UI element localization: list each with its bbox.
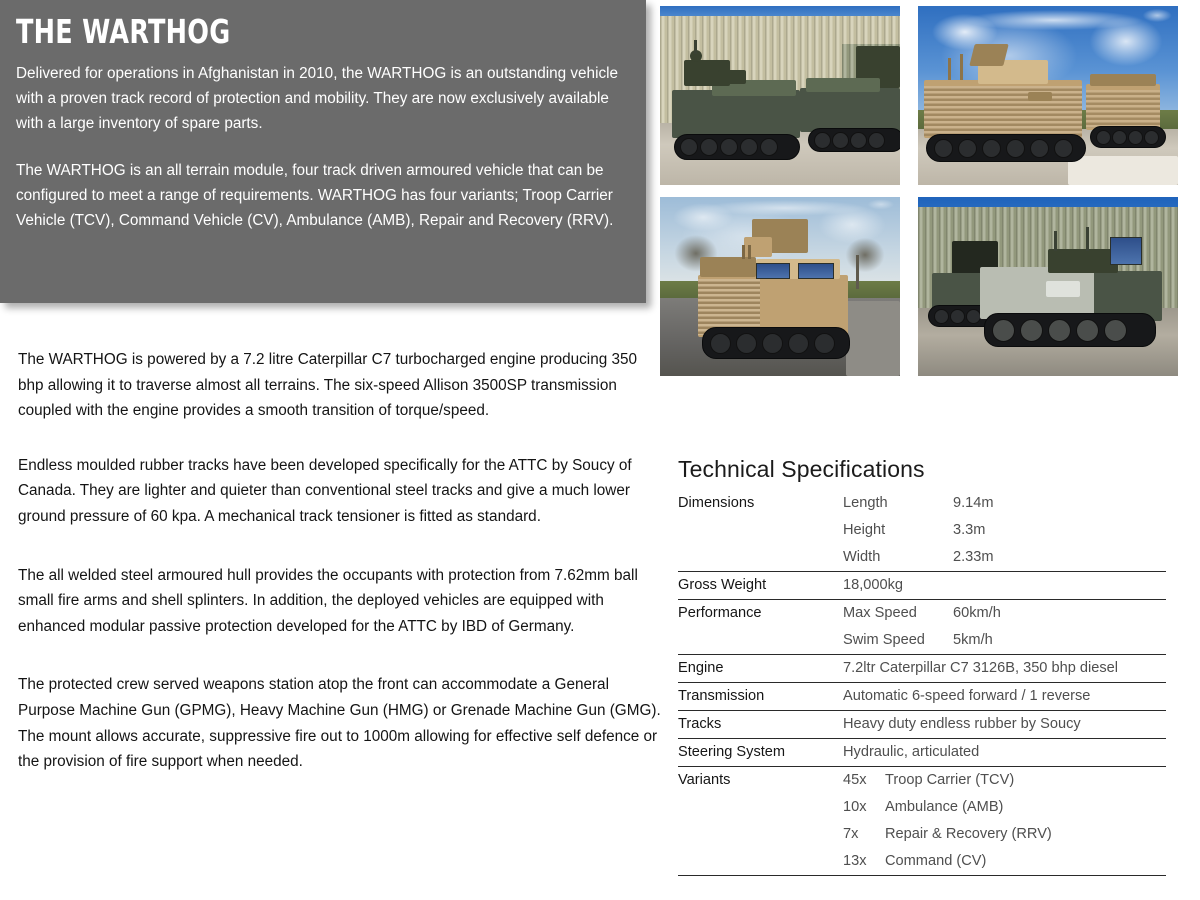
row-label: Dimensions bbox=[678, 490, 843, 517]
row-value: Hydraulic, articulated bbox=[843, 739, 1166, 767]
roadwheel bbox=[950, 309, 965, 324]
hero-paragraph-1: Delivered for operations in Afghanistan … bbox=[16, 61, 628, 136]
road-marking bbox=[1068, 156, 1178, 185]
photo-green-warthog-front-quarter bbox=[918, 197, 1178, 376]
roadwheel bbox=[992, 319, 1015, 342]
windscreen-left bbox=[756, 263, 790, 279]
row-label-spacer bbox=[678, 627, 843, 655]
body-paragraph-engine: The WARTHOG is powered by a 7.2 litre Ca… bbox=[18, 347, 664, 424]
roadwheel bbox=[982, 139, 1001, 158]
sensor-box bbox=[718, 70, 746, 84]
hero-panel: THE WARTHOG Delivered for operations in … bbox=[0, 0, 646, 303]
photo-green-warthog-beside-hangar bbox=[660, 6, 900, 185]
roadwheel bbox=[736, 333, 757, 354]
table-row-transmission: Transmission Automatic 6-speed forward /… bbox=[678, 683, 1166, 711]
row-label: Variants bbox=[678, 767, 843, 795]
row-label: Engine bbox=[678, 655, 843, 683]
roadwheel bbox=[1096, 130, 1111, 145]
weapons-station bbox=[1048, 249, 1118, 273]
variant-entry: 13xCommand (CV) bbox=[843, 848, 1166, 876]
row-label: Tracks bbox=[678, 711, 843, 739]
variant-count: 45x bbox=[843, 768, 885, 792]
roadwheel bbox=[762, 333, 783, 354]
variant-name: Repair & Recovery (RRV) bbox=[885, 826, 1052, 842]
table-row-dimensions-length: Dimensions Length 9.14m bbox=[678, 490, 1166, 517]
vehicle-front-armour-panel bbox=[980, 267, 1098, 319]
row-sublabel: Width bbox=[843, 544, 953, 572]
side-window bbox=[1028, 92, 1052, 101]
table-row-gross-weight: Gross Weight 18,000kg bbox=[678, 572, 1166, 600]
roadwheel bbox=[832, 132, 849, 149]
row-label: Steering System bbox=[678, 739, 843, 767]
table-row-variant-cv: 13xCommand (CV) bbox=[678, 848, 1166, 876]
row-label: Performance bbox=[678, 600, 843, 628]
bar-armour bbox=[924, 86, 1082, 136]
table-row-dimensions-height: Height 3.3m bbox=[678, 517, 1166, 544]
spec-heading: Technical Specifications bbox=[678, 456, 1166, 483]
row-value: 3.3m bbox=[953, 517, 1166, 544]
row-label-spacer bbox=[678, 848, 843, 876]
row-label-spacer bbox=[678, 794, 843, 821]
roadwheel bbox=[760, 138, 778, 156]
tree bbox=[838, 219, 892, 279]
table-row-performance-max-speed: Performance Max Speed 60km/h bbox=[678, 600, 1166, 628]
variant-entry: 45xTroop Carrier (TCV) bbox=[843, 767, 1166, 795]
row-sublabel: Swim Speed bbox=[843, 627, 953, 655]
roadwheel bbox=[1128, 130, 1143, 145]
antenna bbox=[694, 40, 697, 54]
table-row-engine: Engine 7.2ltr Caterpillar C7 3126B, 350 … bbox=[678, 655, 1166, 683]
roadwheel bbox=[710, 333, 731, 354]
row-label-spacer bbox=[678, 544, 843, 572]
variant-name: Ambulance (AMB) bbox=[885, 799, 1003, 815]
roadwheel bbox=[1020, 319, 1043, 342]
roadwheel bbox=[788, 333, 809, 354]
variant-count: 13x bbox=[843, 849, 885, 873]
row-value: Automatic 6-speed forward / 1 reverse bbox=[843, 683, 1166, 711]
vehicle-rear-hull bbox=[800, 88, 900, 132]
roadwheel bbox=[700, 138, 718, 156]
vehicle-rear-roof bbox=[1090, 74, 1156, 86]
row-sublabel: Length bbox=[843, 490, 953, 517]
roadwheel bbox=[740, 138, 758, 156]
smoke-grenade-launcher bbox=[748, 245, 751, 259]
body-text-column: The WARTHOG is powered by a 7.2 litre Ca… bbox=[18, 347, 664, 775]
antenna bbox=[1054, 231, 1057, 251]
photo-tan-warthog-front-view bbox=[660, 197, 900, 376]
antenna bbox=[1086, 227, 1089, 251]
roadwheel bbox=[720, 138, 738, 156]
antenna bbox=[948, 58, 951, 80]
technical-specifications-section: Technical Specifications Dimensions Leng… bbox=[678, 456, 1166, 876]
side-window bbox=[1046, 281, 1080, 297]
roadwheel bbox=[814, 132, 831, 149]
variant-count: 10x bbox=[843, 795, 885, 819]
body-paragraph-weapons: The protected crew served weapons statio… bbox=[18, 672, 664, 774]
row-sublabel: Height bbox=[843, 517, 953, 544]
row-value: 2.33m bbox=[953, 544, 1166, 572]
variant-name: Troop Carrier (TCV) bbox=[885, 772, 1014, 788]
row-label-spacer bbox=[678, 821, 843, 848]
roadwheel bbox=[1054, 139, 1073, 158]
row-value: 7.2ltr Caterpillar C7 3126B, 350 bhp die… bbox=[843, 655, 1166, 683]
photo-grid bbox=[660, 6, 1180, 376]
table-row-variant-amb: 10xAmbulance (AMB) bbox=[678, 794, 1166, 821]
roadwheel bbox=[1048, 319, 1071, 342]
roadwheel bbox=[1144, 130, 1159, 145]
roadwheel bbox=[958, 139, 977, 158]
variant-entry: 10xAmbulance (AMB) bbox=[843, 794, 1166, 821]
smoke-grenade-launcher bbox=[742, 245, 745, 259]
antenna bbox=[960, 54, 963, 80]
page-title: THE WARTHOG bbox=[16, 14, 542, 51]
variant-count: 7x bbox=[843, 822, 885, 846]
weapons-station bbox=[969, 44, 1008, 66]
roadwheel bbox=[1006, 139, 1025, 158]
variant-entry: 7xRepair & Recovery (RRV) bbox=[843, 821, 1166, 848]
roadwheel bbox=[1030, 139, 1049, 158]
photo-tan-warthog-with-bar-armour bbox=[918, 6, 1178, 185]
row-value: 60km/h bbox=[953, 600, 1166, 628]
rear-module bbox=[700, 257, 756, 277]
table-row-performance-swim-speed: Swim Speed 5km/h bbox=[678, 627, 1166, 655]
bar-armour bbox=[1086, 90, 1160, 128]
vehicle-rear-roof bbox=[806, 78, 880, 92]
mirror-arm bbox=[856, 255, 859, 289]
hero-paragraph-2: The WARTHOG is an all terrain module, fo… bbox=[16, 158, 628, 233]
road-edge bbox=[846, 301, 900, 376]
spec-table: Dimensions Length 9.14m Height 3.3m Widt… bbox=[678, 490, 1166, 876]
row-label: Gross Weight bbox=[678, 572, 843, 600]
windscreen-right bbox=[798, 263, 834, 279]
row-value: 5km/h bbox=[953, 627, 1166, 655]
table-row-variant-tcv: Variants 45xTroop Carrier (TCV) bbox=[678, 767, 1166, 795]
row-sublabel: Max Speed bbox=[843, 600, 953, 628]
body-paragraph-armour: The all welded steel armoured hull provi… bbox=[18, 563, 664, 640]
row-label-spacer bbox=[678, 517, 843, 544]
row-value: 18,000kg bbox=[843, 572, 1166, 600]
vehicle-front-hull bbox=[672, 90, 800, 138]
variant-name: Command (CV) bbox=[885, 853, 986, 869]
table-row-dimensions-width: Width 2.33m bbox=[678, 544, 1166, 572]
roadwheel bbox=[850, 132, 867, 149]
roadwheel bbox=[868, 132, 885, 149]
roadwheel bbox=[814, 333, 835, 354]
roadwheel bbox=[966, 309, 981, 324]
table-row-tracks: Tracks Heavy duty endless rubber by Souc… bbox=[678, 711, 1166, 739]
commanders-hatch-panel bbox=[1110, 237, 1142, 265]
roadwheel bbox=[1076, 319, 1099, 342]
roadwheel bbox=[934, 309, 949, 324]
roadwheel bbox=[1104, 319, 1127, 342]
table-row-steering-system: Steering System Hydraulic, articulated bbox=[678, 739, 1166, 767]
roadwheel bbox=[934, 139, 953, 158]
roadwheel bbox=[1112, 130, 1127, 145]
roadwheel bbox=[680, 138, 698, 156]
body-paragraph-tracks: Endless moulded rubber tracks have been … bbox=[18, 453, 664, 530]
row-value: Heavy duty endless rubber by Soucy bbox=[843, 711, 1166, 739]
row-label: Transmission bbox=[678, 683, 843, 711]
table-row-variant-rrv: 7xRepair & Recovery (RRV) bbox=[678, 821, 1166, 848]
row-value: 9.14m bbox=[953, 490, 1166, 517]
